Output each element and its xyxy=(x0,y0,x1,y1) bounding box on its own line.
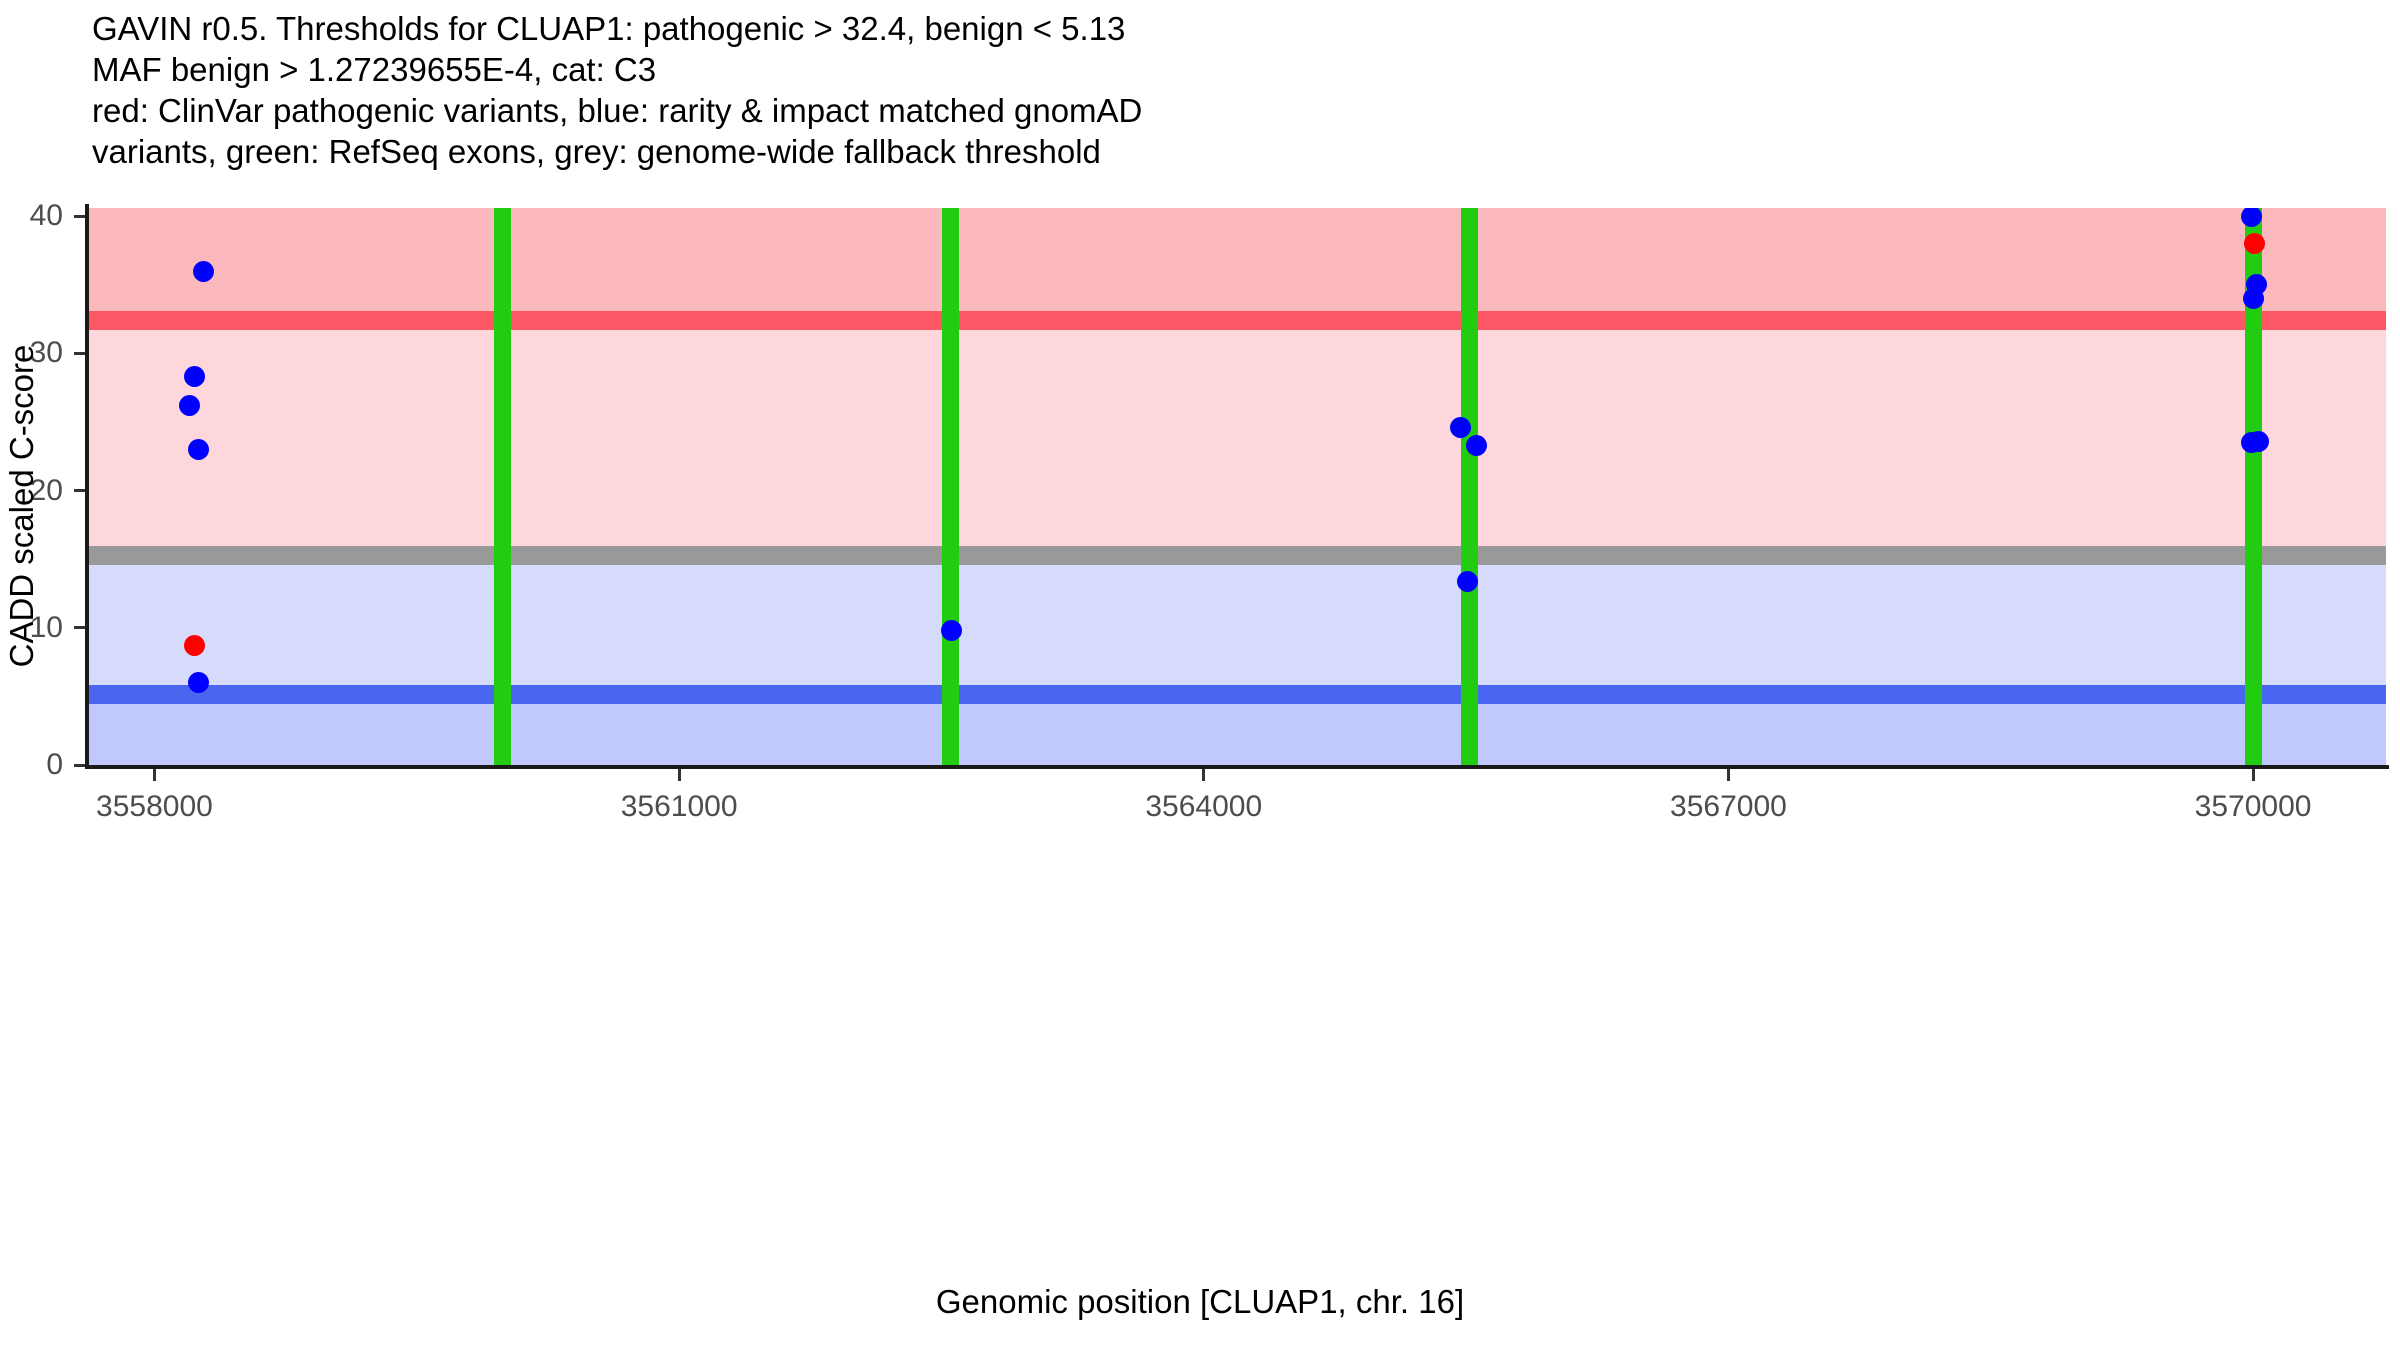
exon-bar-3 xyxy=(1461,208,1478,765)
y-axis-label: CADD scaled C-score xyxy=(3,226,41,786)
y-tick-label: 0 xyxy=(46,748,63,782)
data-point-blue xyxy=(2241,208,2262,227)
chart-title-block: GAVIN r0.5. Thresholds for CLUAP1: patho… xyxy=(92,8,2292,172)
x-axis-label: Genomic position [CLUAP1, chr. 16] xyxy=(0,1283,2400,1321)
chart-root: GAVIN r0.5. Thresholds for CLUAP1: patho… xyxy=(0,0,2400,1350)
data-point-blue xyxy=(179,395,200,416)
threshold-line-benign xyxy=(88,685,2386,704)
y-axis-line xyxy=(85,204,89,769)
threshold-line-genome-wide-fallback xyxy=(88,546,2386,565)
x-tick xyxy=(1202,769,1205,781)
plot-panel xyxy=(88,208,2386,765)
exon-bar-1 xyxy=(494,208,511,765)
x-tick xyxy=(153,769,156,781)
data-point-blue xyxy=(2248,431,2269,452)
title-line-2: MAF benign > 1.27239655E-4, cat: C3 xyxy=(92,49,2292,90)
data-point-blue xyxy=(1466,435,1487,456)
x-tick xyxy=(2252,769,2255,781)
band-benign xyxy=(88,695,2386,765)
y-tick xyxy=(74,215,85,218)
title-line-4: variants, green: RefSeq exons, grey: gen… xyxy=(92,131,2292,172)
band-intermediate-lower xyxy=(88,555,2386,695)
data-point-blue xyxy=(188,672,209,693)
y-tick xyxy=(74,489,85,492)
x-tick-label: 3564000 xyxy=(1145,790,1262,824)
x-tick-label: 3561000 xyxy=(621,790,738,824)
data-point-blue xyxy=(2243,288,2264,309)
exon-bar-2 xyxy=(942,208,959,765)
title-line-3: red: ClinVar pathogenic variants, blue: … xyxy=(92,90,2292,131)
x-axis-line xyxy=(85,765,2389,769)
y-tick xyxy=(74,764,85,767)
x-tick xyxy=(678,769,681,781)
y-tick xyxy=(74,352,85,355)
x-tick-label: 3558000 xyxy=(96,790,213,824)
y-tick xyxy=(74,626,85,629)
band-pathogenic xyxy=(88,208,2386,320)
x-tick-label: 3567000 xyxy=(1670,790,1787,824)
data-point-blue xyxy=(193,261,214,282)
data-point-blue xyxy=(1457,571,1478,592)
title-line-1: GAVIN r0.5. Thresholds for CLUAP1: patho… xyxy=(92,8,2292,49)
x-tick-label: 3570000 xyxy=(2195,790,2312,824)
data-point-blue xyxy=(188,439,209,460)
threshold-line-pathogenic xyxy=(88,311,2386,330)
x-tick xyxy=(1727,769,1730,781)
band-intermediate-upper xyxy=(88,320,2386,555)
